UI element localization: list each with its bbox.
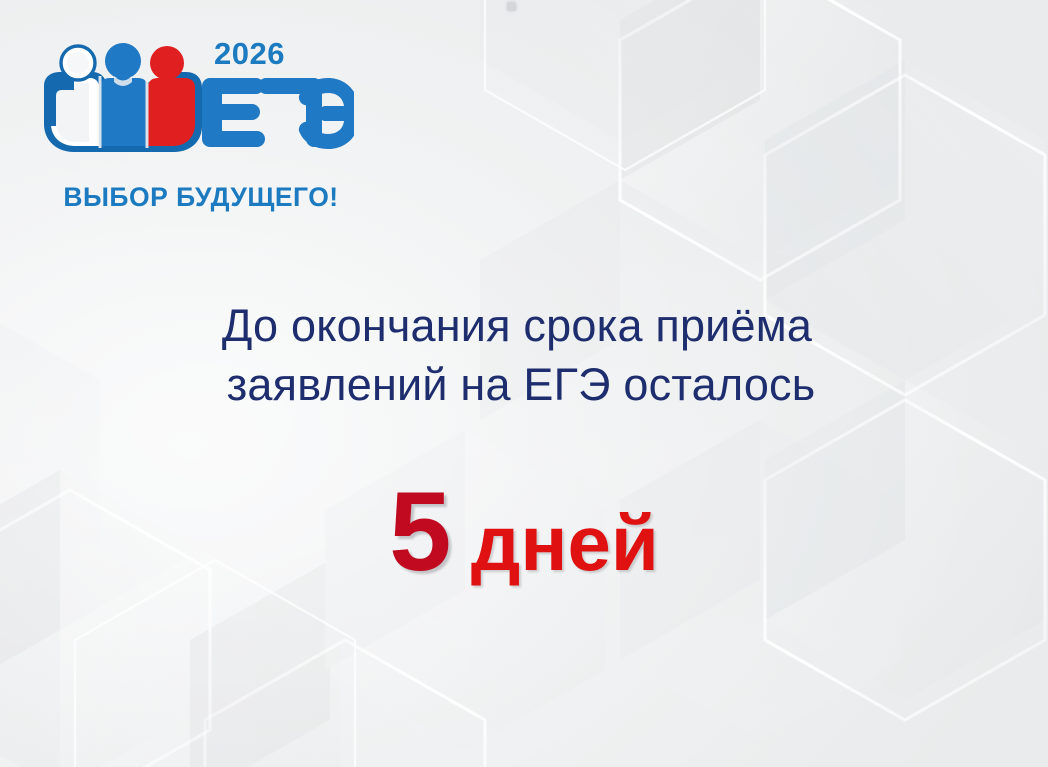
headline-line-1: До окончания срока приёма [0, 296, 1048, 355]
logo-wordmark-ege [202, 78, 354, 149]
ege-logo: 2026 ВЫБОР БУДУЩЕГО! [34, 30, 354, 220]
poster-canvas: 2026 ВЫБОР БУДУЩЕГО! До окончания срока … [0, 0, 1048, 767]
top-speck-artifact [507, 2, 516, 11]
logo-tagline: ВЫБОР БУДУЩЕГО! [46, 182, 356, 213]
ege-three-figures-emblem [44, 43, 202, 152]
headline-text: До окончания срока приёма заявлений на Е… [0, 296, 1048, 415]
blue-figure-head [105, 43, 141, 79]
countdown-block: 5 дней [0, 476, 1048, 588]
headline-line-2: заявлений на ЕГЭ осталось [0, 355, 1048, 414]
logo-year-text: 2026 [214, 36, 285, 71]
red-figure-head [150, 46, 184, 80]
countdown-number: 5 [389, 476, 450, 588]
ege-logo-mark: 2026 [34, 30, 354, 170]
countdown-unit: дней [471, 504, 659, 582]
